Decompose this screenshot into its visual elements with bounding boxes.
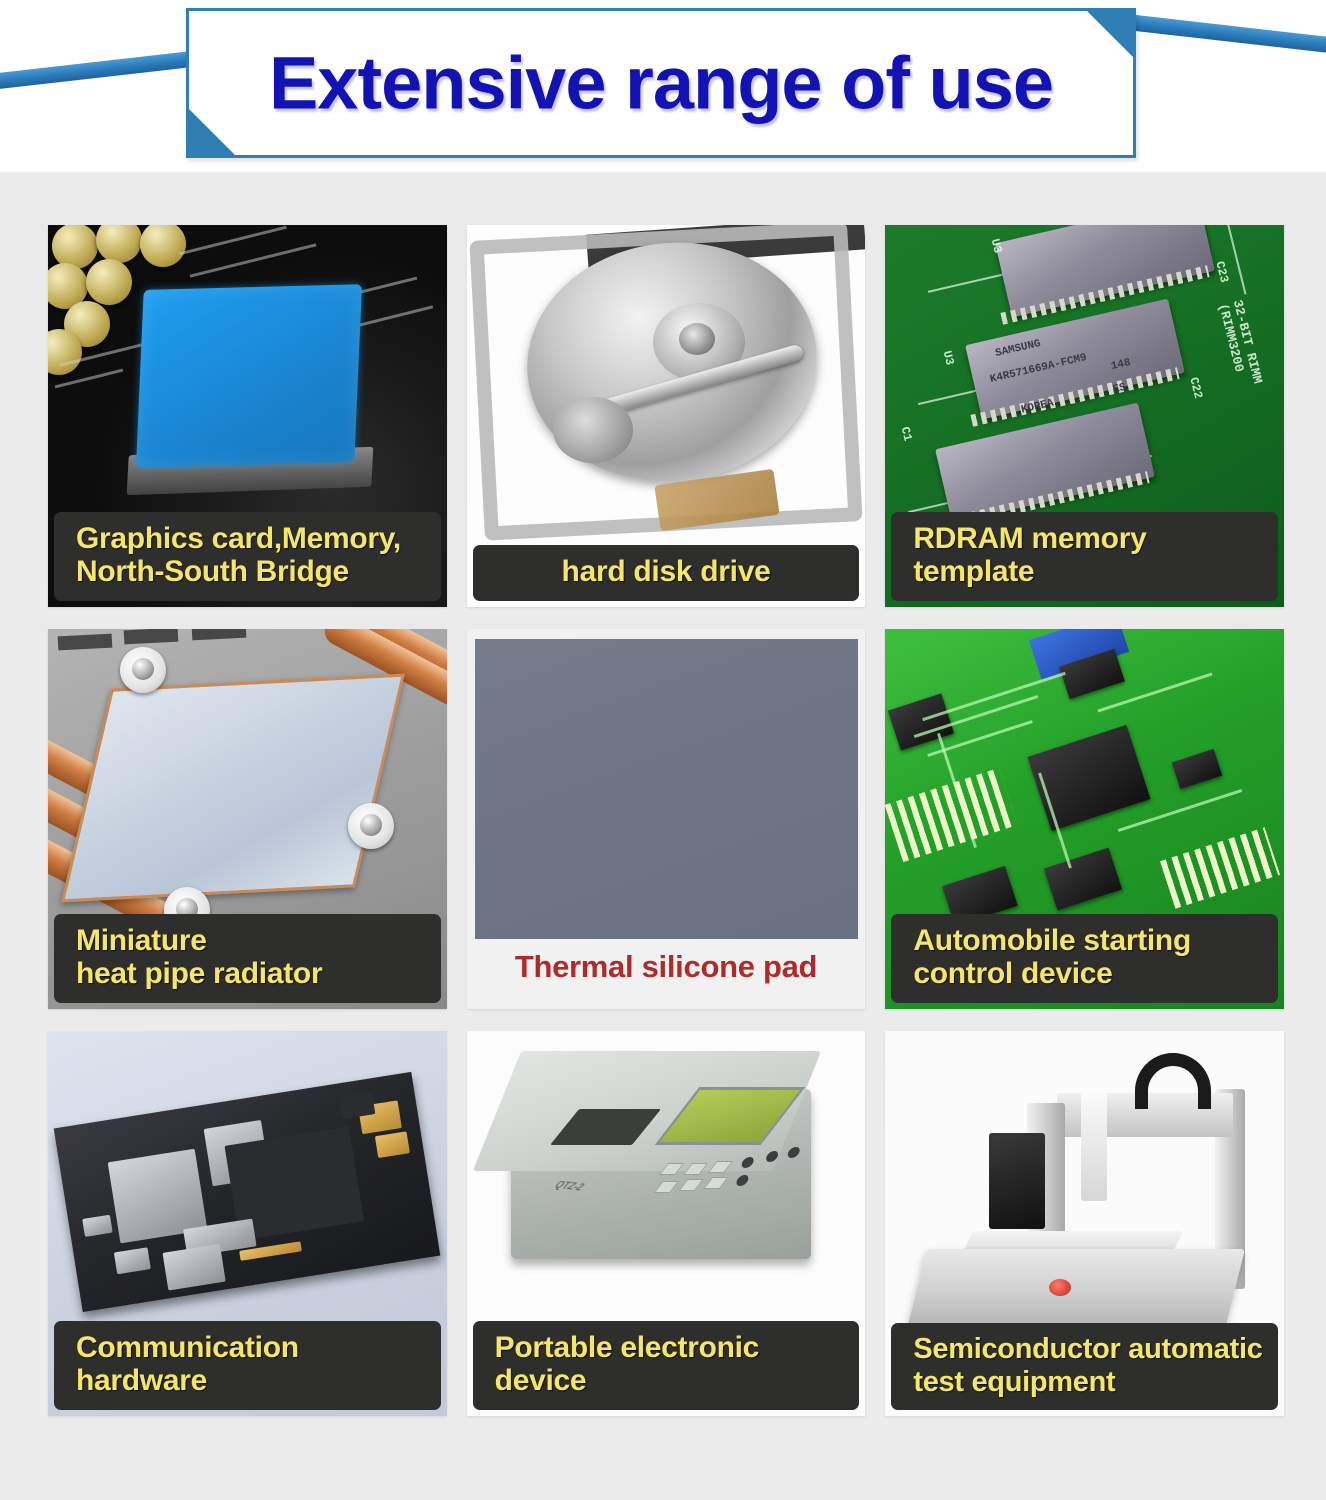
tile-miniature-heat-pipe-radiator[interactable]: Miniature heat pipe radiator xyxy=(48,629,447,1009)
tile-semiconductor-test-equipment[interactable]: Semiconductor automatic test equipment xyxy=(885,1031,1284,1416)
thermal-pad-on-plate xyxy=(61,674,405,903)
ribbon-right-decoration xyxy=(1109,12,1326,54)
page-header: Extensive range of use xyxy=(0,0,1326,172)
grid-row-2: Miniature heat pipe radiator Thermal sil… xyxy=(48,629,1284,1009)
silkscreen-c22: C22 xyxy=(1187,376,1206,400)
tile-caption-rdram: RDRAM memory template xyxy=(891,512,1278,601)
main-ic xyxy=(1028,725,1151,831)
caption-line-1: Semiconductor automatic xyxy=(913,1333,1264,1365)
caption-line-2: control device xyxy=(913,957,1264,991)
caption-line-1: Communication xyxy=(76,1331,427,1365)
caption-line-1: Thermal silicone pad xyxy=(487,950,846,985)
caption-line-2: device xyxy=(495,1364,846,1398)
feature-grid: Graphics card,Memory, North-South Bridge xyxy=(48,225,1284,1438)
grid-row-1: Graphics card,Memory, North-South Bridge xyxy=(48,225,1284,607)
small-ic xyxy=(888,693,954,750)
silkscreen-u3-b: U3 xyxy=(940,349,957,366)
voice-coil xyxy=(553,397,633,463)
printer-slot xyxy=(550,1109,661,1145)
instrument-top-panel: QTZ-2 xyxy=(472,1051,820,1171)
dispense-needle-head xyxy=(1081,1091,1107,1201)
tile-rdram-memory-template[interactable]: SAMSUNG K4R571669A-FCM9 148 ES KOREA U3 … xyxy=(885,225,1284,607)
caption-line-2: hardware xyxy=(76,1364,427,1398)
caption-line-2: North-South Bridge xyxy=(76,555,427,589)
silicone-pad-sheet xyxy=(475,639,858,939)
caption-line-2: heat pipe radiator xyxy=(76,957,427,991)
small-ic xyxy=(1172,749,1222,789)
grid-row-3: Communication hardware xyxy=(48,1031,1284,1416)
tile-caption-communication-hardware: Communication hardware xyxy=(54,1321,441,1410)
tile-hard-disk-drive[interactable]: hard disk drive xyxy=(467,225,866,607)
title-box: Extensive range of use xyxy=(186,8,1136,158)
standoff-screw xyxy=(120,647,166,693)
solder-pad-array xyxy=(885,768,1017,862)
tile-caption-graphics-card: Graphics card,Memory, North-South Bridge xyxy=(54,512,441,601)
product-feature-page: Extensive range of use xyxy=(0,0,1326,1500)
lcd-display xyxy=(654,1087,805,1145)
spindle-center xyxy=(679,323,715,355)
tile-caption-semiconductor: Semiconductor automatic test equipment xyxy=(891,1323,1278,1410)
silkscreen-c23: C23 xyxy=(1213,260,1232,284)
tile-portable-electronic-device[interactable]: QTZ-2 Portable electronic device xyxy=(467,1031,866,1416)
caption-line-1: Miniature xyxy=(76,924,427,958)
chip-grade-text: ES xyxy=(1112,382,1128,397)
caption-line-1: hard disk drive xyxy=(487,555,846,589)
silkscreen-module-type: 32-BIT RIMM (RIMM3200 xyxy=(1216,298,1266,389)
tile-caption-automobile: Automobile starting control device xyxy=(891,914,1278,1003)
motor-block xyxy=(989,1133,1045,1229)
tile-graphics-card[interactable]: Graphics card,Memory, North-South Bridge xyxy=(48,225,447,607)
standoff-screw xyxy=(348,803,394,849)
tile-caption-hard-disk-drive: hard disk drive xyxy=(473,545,860,601)
silkscreen-c1: C1 xyxy=(898,425,915,442)
tile-caption-portable-device: Portable electronic device xyxy=(473,1321,860,1410)
small-ic xyxy=(1044,848,1122,911)
phone-mainboard xyxy=(54,1072,441,1312)
tile-communication-hardware[interactable]: Communication hardware xyxy=(48,1031,447,1416)
tile-automobile-control-device[interactable]: Automobile starting control device xyxy=(885,629,1284,1009)
tile-thermal-silicone-pad[interactable]: Thermal silicone pad xyxy=(467,629,866,1009)
machine-base xyxy=(907,1249,1245,1329)
caption-line-1: Portable electronic xyxy=(495,1331,846,1365)
cable-carrier xyxy=(1135,1053,1211,1109)
page-title: Extensive range of use xyxy=(189,41,1133,126)
caption-line-2: test equipment xyxy=(913,1366,1264,1398)
caption-line-1: Graphics card,Memory, xyxy=(76,522,427,556)
solder-pad-array xyxy=(1160,827,1280,909)
blue-thermal-pad xyxy=(136,284,362,468)
tile-caption-heat-pipe: Miniature heat pipe radiator xyxy=(54,914,441,1003)
caption-line-1: RDRAM memory template xyxy=(913,522,1264,589)
tile-caption-thermal-silicone-pad: Thermal silicone pad xyxy=(473,940,860,997)
caption-line-1: Automobile starting xyxy=(913,924,1264,958)
